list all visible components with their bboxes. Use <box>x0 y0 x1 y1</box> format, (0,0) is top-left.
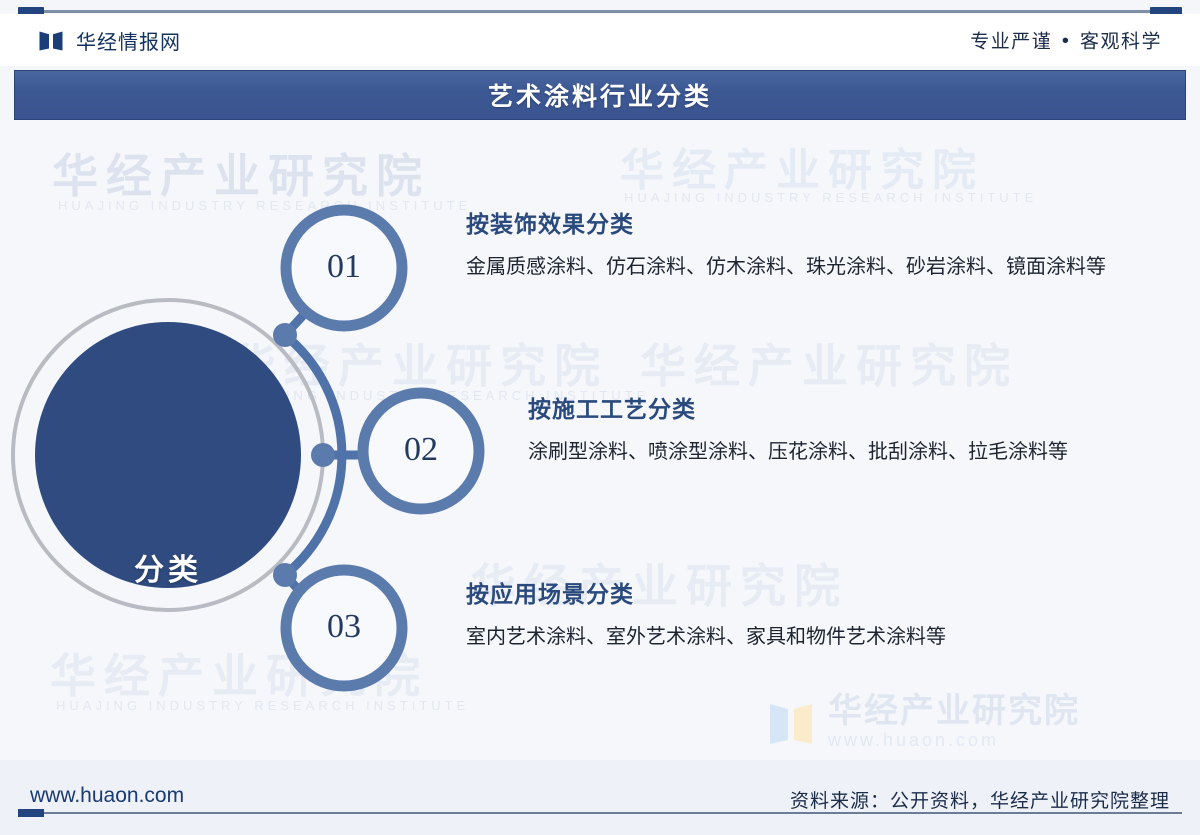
top-divider <box>18 10 1182 13</box>
huaon-butterfly-logo-icon <box>38 27 64 53</box>
brand: 华经情报网 <box>38 26 181 55</box>
item-title-01: 按装饰效果分类 <box>466 205 1176 239</box>
page-header: 华经情报网 专业严谨 • 客观科学 <box>0 14 1200 66</box>
item-block-01: 按装饰效果分类 金属质感涂料、仿石涂料、仿木涂料、珠光涂料、砂岩涂料、镜面涂料等 <box>466 205 1176 282</box>
item-desc-03: 室内艺术涂料、室外艺术涂料、家具和物件艺术涂料等 <box>466 621 1176 652</box>
infographic-page: 华经情报网 专业严谨 • 客观科学 艺术涂料行业分类 华经产业研究院 HUAJI… <box>0 0 1200 835</box>
footer-divider-left-cap <box>18 809 44 817</box>
node-circle-01[interactable] <box>286 210 402 326</box>
item-block-02: 按施工工艺分类 涂刷型涂料、喷涂型涂料、压花涂料、批刮涂料、拉毛涂料等 <box>528 390 1173 467</box>
item-title-03: 按应用场景分类 <box>466 575 1176 609</box>
connector-dot-01 <box>273 323 297 347</box>
connector-dot-03 <box>273 563 297 587</box>
connector-dot-02 <box>311 443 335 467</box>
footer-source: 资料来源：公开资料，华经产业研究院整理 <box>790 786 1170 813</box>
hub-circle <box>35 322 301 588</box>
diagram-canvas: 华经产业研究院 HUAJING INDUSTRY RESEARCH INSTIT… <box>0 120 1200 760</box>
header-tagline: 专业严谨 • 客观科学 <box>970 27 1162 54</box>
node-circle-03[interactable] <box>286 570 402 686</box>
footer-url[interactable]: www.huaon.com <box>30 784 184 808</box>
footer-divider <box>18 812 1182 814</box>
page-title: 艺术涂料行业分类 <box>488 77 712 113</box>
item-desc-02: 涂刷型涂料、喷涂型涂料、压花涂料、批刮涂料、拉毛涂料等 <box>528 436 1173 467</box>
item-block-03: 按应用场景分类 室内艺术涂料、室外艺术涂料、家具和物件艺术涂料等 <box>466 575 1176 652</box>
item-desc-01: 金属质感涂料、仿石涂料、仿木涂料、珠光涂料、砂岩涂料、镜面涂料等 <box>466 251 1176 282</box>
title-banner: 艺术涂料行业分类 <box>14 70 1186 120</box>
brand-name: 华经情报网 <box>76 26 181 55</box>
item-title-02: 按施工工艺分类 <box>528 390 1173 424</box>
node-circle-02[interactable] <box>363 393 479 509</box>
